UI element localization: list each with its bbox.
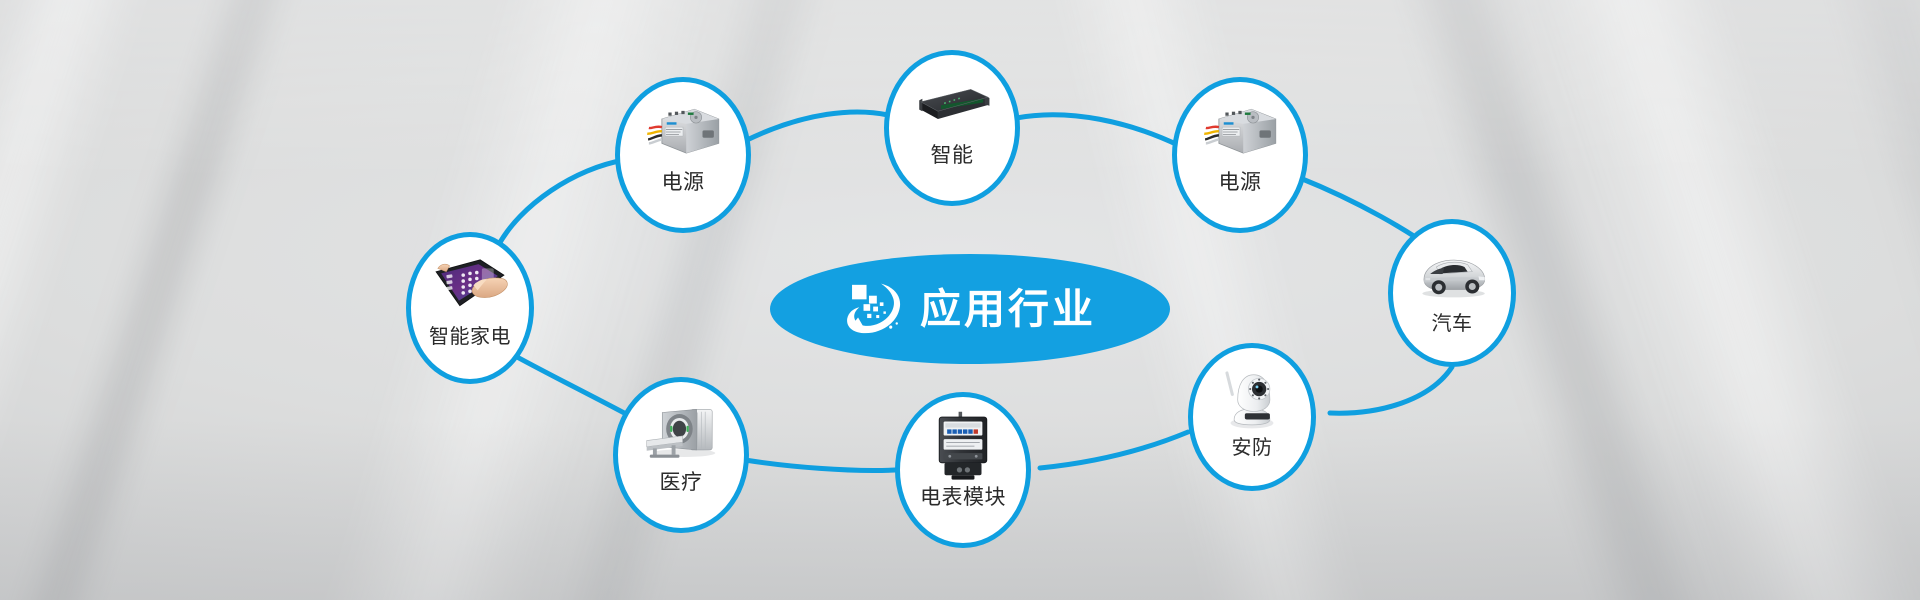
link-meter-medical xyxy=(745,460,895,470)
electricity-meter-icon xyxy=(924,411,1002,483)
link-power-left-smart xyxy=(747,112,888,140)
sports-car-icon xyxy=(1413,238,1491,310)
link-security-meter xyxy=(1040,432,1188,468)
center-badge-title: 应用行业 xyxy=(920,289,1096,330)
pixel-orbit-swoosh-logo-icon xyxy=(844,280,906,338)
node-power-left[interactable]: 电源 xyxy=(615,77,751,233)
pc-power-supply-icon xyxy=(644,96,722,168)
mri-ct-scanner-icon xyxy=(642,396,720,468)
node-smart[interactable]: 智能 xyxy=(884,50,1020,206)
node-smart-home[interactable]: 智能家电 xyxy=(406,232,534,384)
node-label: 电源 xyxy=(662,172,705,193)
ip-camera-icon xyxy=(1213,362,1291,434)
node-label: 安防 xyxy=(1232,438,1273,458)
node-medical[interactable]: 医疗 xyxy=(613,377,749,533)
pc-power-supply-icon xyxy=(1201,96,1279,168)
node-label: 智能家电 xyxy=(429,327,511,347)
node-label: 电表模块 xyxy=(920,487,1006,508)
node-meter[interactable]: 电表模块 xyxy=(895,392,1031,548)
node-label: 医疗 xyxy=(660,472,703,493)
tablet-touch-icon xyxy=(431,251,509,323)
rack-server-icon xyxy=(913,69,991,141)
node-label: 电源 xyxy=(1219,172,1262,193)
node-label: 智能 xyxy=(931,145,974,166)
link-smart-power-right xyxy=(1016,115,1180,146)
node-security[interactable]: 安防 xyxy=(1188,343,1316,491)
application-industries-banner: 应用行业 xyxy=(0,0,1920,600)
node-automotive[interactable]: 汽车 xyxy=(1388,219,1516,367)
link-smart-home-power-left xyxy=(498,160,625,246)
link-automotive-security xyxy=(1330,367,1452,413)
node-label: 汽车 xyxy=(1432,314,1473,334)
node-power-right[interactable]: 电源 xyxy=(1172,77,1308,233)
center-badge: 应用行业 xyxy=(770,254,1170,364)
